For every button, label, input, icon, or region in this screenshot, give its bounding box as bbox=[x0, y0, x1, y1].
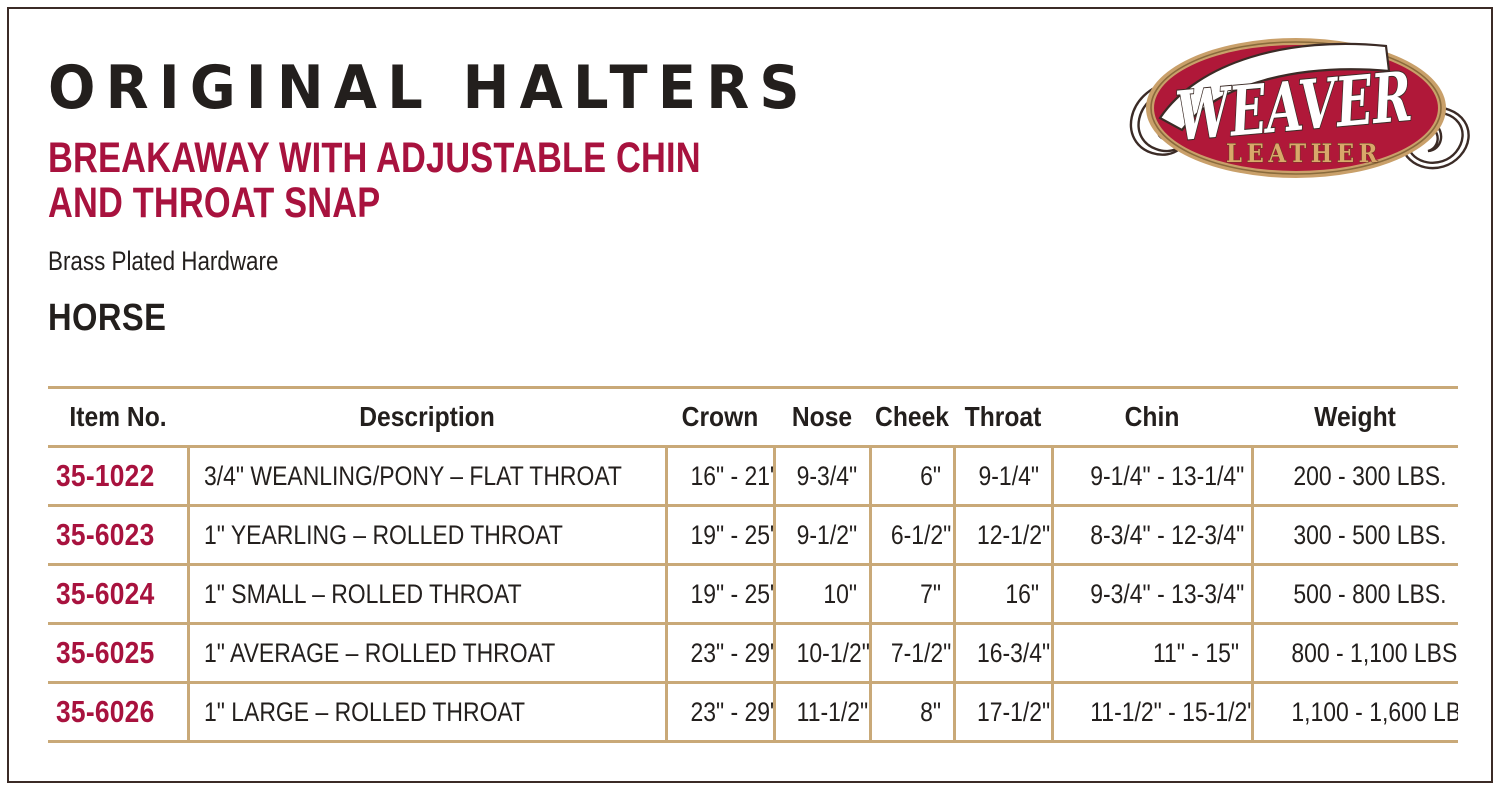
logo-subbrand-text: LEATHER bbox=[1226, 139, 1382, 168]
cell-weight: 500 - 800 LBS. bbox=[1252, 565, 1458, 624]
section-heading-horse: HORSE bbox=[48, 298, 960, 338]
column-header-weight: Weight bbox=[1252, 388, 1458, 447]
cell-nose: 10-1/2" bbox=[774, 624, 870, 683]
cell-description: 1" LARGE – ROLLED THROAT bbox=[188, 683, 666, 742]
cell-weight: 800 - 1,100 LBS. bbox=[1252, 624, 1458, 683]
column-header-throat: Throat bbox=[954, 388, 1052, 447]
cell-weight: 1,100 - 1,600 LBS. bbox=[1252, 683, 1458, 742]
table-body: 35-1022 3/4" WEANLING/PONY – FLAT THROAT… bbox=[48, 447, 1458, 742]
cell-crown: 19" - 25" bbox=[666, 565, 774, 624]
spec-table: Item No. Description Crown Nose Cheek Th… bbox=[48, 386, 1458, 743]
column-header-cheek: Cheek bbox=[870, 388, 954, 447]
cell-cheek: 8" bbox=[870, 683, 954, 742]
cell-cheek: 6" bbox=[870, 447, 954, 506]
spec-table-container: Item No. Description Crown Nose Cheek Th… bbox=[48, 386, 1458, 743]
cell-item-no: 35-6026 bbox=[48, 683, 188, 742]
cell-chin: 9-1/4" - 13-1/4" bbox=[1052, 447, 1252, 506]
column-header-chin: Chin bbox=[1052, 388, 1252, 447]
table-row: 35-1022 3/4" WEANLING/PONY – FLAT THROAT… bbox=[48, 447, 1458, 506]
cell-crown: 16" - 21" bbox=[666, 447, 774, 506]
spec-sheet-page: ORIGINAL HALTERS BREAKAWAY WITH ADJUSTAB… bbox=[0, 0, 1500, 790]
cell-throat: 12-1/2" bbox=[954, 506, 1052, 565]
column-header-nose: Nose bbox=[774, 388, 870, 447]
cell-chin: 8-3/4" - 12-3/4" bbox=[1052, 506, 1252, 565]
cell-cheek: 7-1/2" bbox=[870, 624, 954, 683]
column-header-item-no: Item No. bbox=[48, 388, 188, 447]
cell-item-no: 35-6025 bbox=[48, 624, 188, 683]
header-block: ORIGINAL HALTERS BREAKAWAY WITH ADJUSTAB… bbox=[48, 56, 1108, 338]
table-header-row: Item No. Description Crown Nose Cheek Th… bbox=[48, 388, 1458, 447]
table-row: 35-6025 1" AVERAGE – ROLLED THROAT 23" -… bbox=[48, 624, 1458, 683]
cell-item-no: 35-1022 bbox=[48, 447, 188, 506]
cell-description: 1" YEARLING – ROLLED THROAT bbox=[188, 506, 666, 565]
table-row: 35-6023 1" YEARLING – ROLLED THROAT 19" … bbox=[48, 506, 1458, 565]
cell-throat: 9-1/4" bbox=[954, 447, 1052, 506]
cell-cheek: 7" bbox=[870, 565, 954, 624]
cell-description: 3/4" WEANLING/PONY – FLAT THROAT bbox=[188, 447, 666, 506]
cell-chin: 9-3/4" - 13-3/4" bbox=[1052, 565, 1252, 624]
cell-weight: 200 - 300 LBS. bbox=[1252, 447, 1458, 506]
cell-item-no: 35-6023 bbox=[48, 506, 188, 565]
page-subtitle: BREAKAWAY WITH ADJUSTABLE CHIN AND THROA… bbox=[48, 136, 896, 226]
cell-description: 1" SMALL – ROLLED THROAT bbox=[188, 565, 666, 624]
column-header-crown: Crown bbox=[666, 388, 774, 447]
cell-nose: 11-1/2" bbox=[774, 683, 870, 742]
cell-cheek: 6-1/2" bbox=[870, 506, 954, 565]
cell-nose: 9-1/2" bbox=[774, 506, 870, 565]
cell-nose: 10" bbox=[774, 565, 870, 624]
cell-throat: 16" bbox=[954, 565, 1052, 624]
cell-crown: 23" - 29" bbox=[666, 683, 774, 742]
cell-throat: 16-3/4" bbox=[954, 624, 1052, 683]
cell-chin: 11-1/2" - 15-1/2" bbox=[1052, 683, 1252, 742]
cell-crown: 23" - 29" bbox=[666, 624, 774, 683]
table-row: 35-6024 1" SMALL – ROLLED THROAT 19" - 2… bbox=[48, 565, 1458, 624]
weaver-leather-logo: WEAVER LEATHER bbox=[1108, 22, 1484, 194]
column-header-description: Description bbox=[188, 388, 666, 447]
cell-item-no: 35-6024 bbox=[48, 565, 188, 624]
cell-weight: 300 - 500 LBS. bbox=[1252, 506, 1458, 565]
cell-throat: 17-1/2" bbox=[954, 683, 1052, 742]
cell-nose: 9-3/4" bbox=[774, 447, 870, 506]
cell-chin: 11" - 15" bbox=[1052, 624, 1252, 683]
table-row: 35-6026 1" LARGE – ROLLED THROAT 23" - 2… bbox=[48, 683, 1458, 742]
cell-crown: 19" - 25" bbox=[666, 506, 774, 565]
cell-description: 1" AVERAGE – ROLLED THROAT bbox=[188, 624, 666, 683]
hardware-note: Brass Plated Hardware bbox=[48, 246, 928, 276]
page-title: ORIGINAL HALTERS bbox=[48, 56, 1034, 120]
